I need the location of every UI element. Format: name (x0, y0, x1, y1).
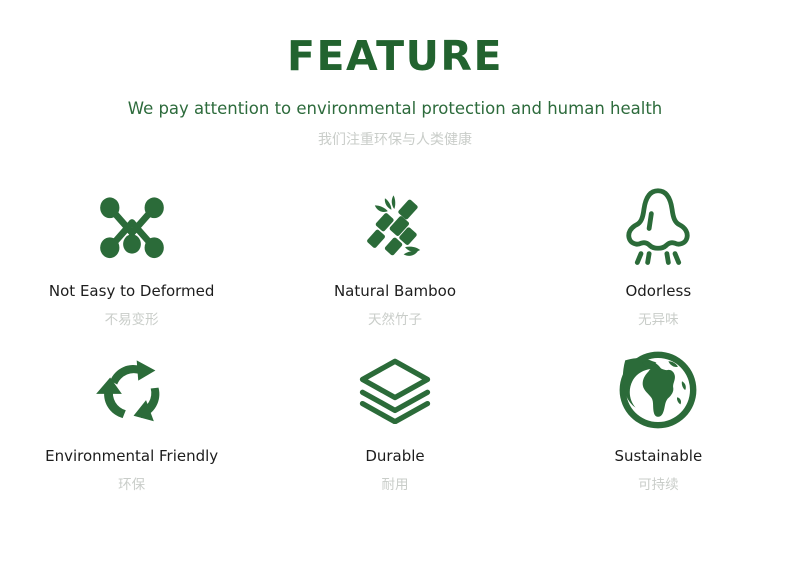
feature-label-english: Sustainable (614, 448, 702, 465)
feature-label-chinese: 可持续 (638, 478, 679, 493)
feature-card-sustainable[interactable]: Sustainable 可持续 (527, 332, 790, 493)
feature-card-odorless[interactable]: Odorless 无异味 (527, 171, 790, 332)
section-header: FEATURE We pay attention to environmenta… (0, 0, 790, 147)
feature-card-natural-bamboo[interactable]: Natural Bamboo 天然竹子 (263, 171, 526, 332)
feature-label-chinese: 无异味 (638, 313, 679, 328)
feature-label-english: Durable (365, 448, 424, 465)
section-subtitle-english: We pay attention to environmental protec… (0, 101, 790, 118)
feature-label-english: Not Easy to Deformed (49, 283, 215, 300)
feature-card-not-easy-to-deformed[interactable]: Not Easy to Deformed 不易变形 (0, 171, 263, 332)
feature-grid: Not Easy to Deformed 不易变形 (0, 171, 790, 494)
feature-section: FEATURE We pay attention to environmenta… (0, 0, 790, 576)
feature-label-chinese: 耐用 (381, 478, 408, 493)
feature-label-english: Odorless (625, 283, 691, 300)
section-subtitle-chinese: 我们注重环保与人类健康 (0, 133, 790, 147)
page-title: FEATURE (0, 36, 790, 77)
globe-leaf-icon (610, 340, 706, 440)
feature-card-durable[interactable]: Durable 耐用 (263, 332, 526, 493)
feature-label-chinese: 环保 (118, 478, 145, 493)
feature-label-chinese: 不易变形 (105, 313, 159, 328)
nose-icon (610, 179, 706, 275)
feature-card-environmental-friendly[interactable]: Environmental Friendly 环保 (0, 332, 263, 493)
feature-label-english: Environmental Friendly (45, 448, 218, 465)
recycle-icon (84, 340, 180, 440)
layers-stack-icon (347, 340, 443, 440)
molecule-x-icon (84, 179, 180, 275)
feature-label-chinese: 天然竹子 (368, 313, 422, 328)
feature-label-english: Natural Bamboo (334, 283, 456, 300)
bamboo-icon (347, 179, 443, 275)
